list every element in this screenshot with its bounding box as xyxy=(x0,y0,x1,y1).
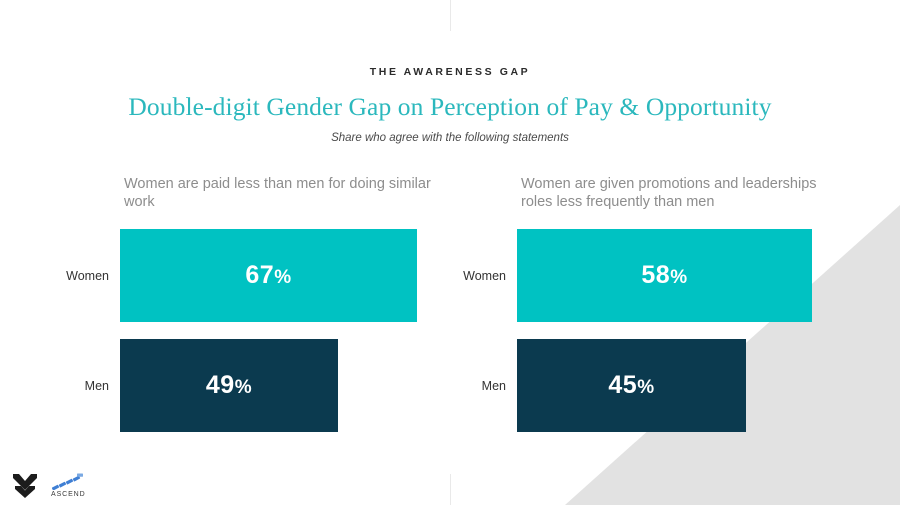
footer-logos: ASCEND xyxy=(12,464,86,498)
bar-category-label: Women xyxy=(463,269,506,283)
center-divider-bottom xyxy=(450,474,451,505)
eyebrow-label: THE AWARENESS GAP xyxy=(0,66,900,78)
ascend-wordmark: ASCEND xyxy=(51,491,86,498)
bar-row: Men 45% xyxy=(517,339,857,432)
bar-value-label: 49% xyxy=(206,371,252,400)
bar-women-pay[interactable]: 67% xyxy=(120,229,417,322)
bar-group-pay: Women 67% Men 49% xyxy=(120,229,460,439)
ascending-dashes-icon xyxy=(52,473,84,490)
bar-category-label: Men xyxy=(482,379,506,393)
bar-row: Women 58% xyxy=(517,229,857,322)
double-chevron-m-mark-icon xyxy=(12,472,38,498)
bar-category-label: Men xyxy=(85,379,109,393)
bar-category-label: Women xyxy=(66,269,109,283)
slide-header: THE AWARENESS GAP Double-digit Gender Ga… xyxy=(0,0,900,144)
chart-title-promotions: Women are given promotions and leadershi… xyxy=(521,175,851,211)
page-subtitle: Share who agree with the following state… xyxy=(0,132,900,144)
ascend-logo: ASCEND xyxy=(51,473,86,498)
chart-panel-promotions: Women are given promotions and leadershi… xyxy=(517,175,857,439)
bar-value-label: 45% xyxy=(608,371,654,400)
bar-row: Women 67% xyxy=(120,229,460,322)
bar-men-pay[interactable]: 49% xyxy=(120,339,338,432)
page-title: Double-digit Gender Gap on Perception of… xyxy=(0,92,900,122)
bar-men-promotions[interactable]: 45% xyxy=(517,339,746,432)
chart-panel-pay: Women are paid less than men for doing s… xyxy=(120,175,460,439)
bar-row: Men 49% xyxy=(120,339,460,432)
bar-group-promotions: Women 58% Men 45% xyxy=(517,229,857,439)
charts-container: Women are paid less than men for doing s… xyxy=(0,175,900,455)
bar-value-label: 67% xyxy=(245,261,291,290)
slide-canvas: THE AWARENESS GAP Double-digit Gender Ga… xyxy=(0,0,900,505)
bar-value-label: 58% xyxy=(641,261,687,290)
chart-title-pay: Women are paid less than men for doing s… xyxy=(124,175,454,211)
bar-women-promotions[interactable]: 58% xyxy=(517,229,812,322)
